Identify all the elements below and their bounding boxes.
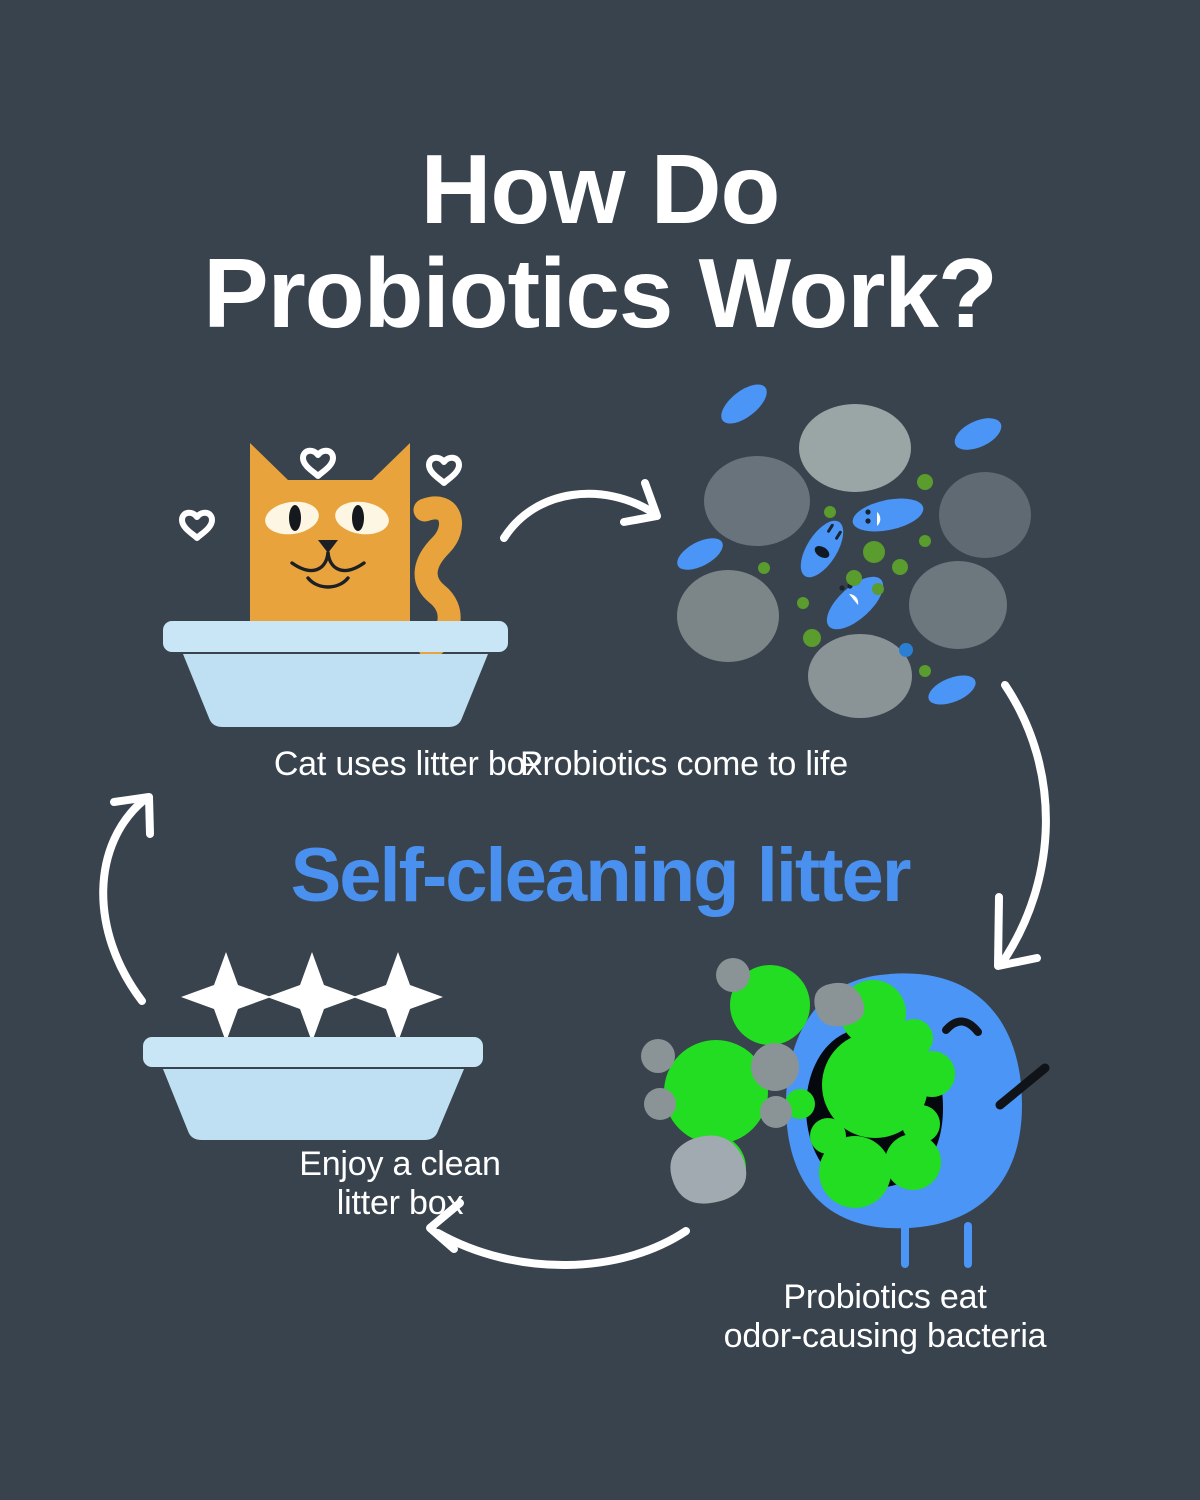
litter-box-basin-top [183, 654, 488, 727]
illustration-probiotic-cluster [672, 377, 1031, 718]
probiotic-character-leg [964, 1222, 972, 1268]
litter-clump-particle [716, 958, 750, 992]
green-speck [919, 535, 931, 547]
cat-pupil-left [289, 505, 301, 531]
litter-box-rim-top [163, 621, 508, 652]
litter-clump [939, 472, 1031, 558]
probiotic-character-leg [901, 1222, 909, 1268]
green-speck [917, 474, 933, 490]
green-speck [892, 559, 908, 575]
cat-pupil-right [352, 505, 364, 531]
litter-clump [808, 634, 912, 718]
heart-icon-top [303, 451, 333, 476]
green-speck [803, 629, 821, 647]
odor-bacteria-particle [885, 1134, 941, 1190]
green-speck [824, 506, 836, 518]
litter-clump-particle [760, 1096, 792, 1128]
litter-clump [909, 561, 1007, 649]
infographic-canvas: How Do Probiotics Work? [0, 0, 1200, 1500]
arrow-cat-to-probiotics [504, 483, 657, 538]
probiotic-bacterium-with-face [850, 493, 927, 537]
probiotic-bacterium [924, 670, 979, 711]
illustration-cat-in-litter-box [163, 443, 508, 727]
caption-probiotics-come-to-life: Probiotics come to life [520, 745, 1200, 784]
litter-clump-particle [641, 1039, 675, 1073]
odor-bacteria-particle [895, 1019, 933, 1057]
litter-clump [677, 570, 779, 662]
caption-probiotics-eat-bacteria: Probiotics eat odor-causing bacteria [630, 1278, 1140, 1356]
arrow-probiotics-to-eat [998, 685, 1046, 966]
litter-clump [799, 404, 911, 492]
green-speck [758, 562, 770, 574]
green-speck [863, 541, 885, 563]
illustration-clean-litter-box [143, 952, 483, 1140]
green-speck [846, 570, 862, 586]
odor-bacteria-particle [819, 1136, 891, 1208]
green-speck [899, 643, 913, 657]
litter-clump [704, 456, 810, 546]
sparkle-icon [267, 952, 357, 1042]
litter-box-rim-bottom [143, 1037, 483, 1067]
green-speck [919, 665, 931, 677]
probiotic-bacterium [672, 532, 727, 577]
heart-icon-left [182, 513, 212, 538]
odor-bacteria-particle [664, 1040, 768, 1144]
litter-clump-particle [751, 1043, 799, 1091]
sparkle-icon [353, 952, 443, 1042]
heart-icon-right [429, 458, 459, 483]
green-speck [872, 583, 884, 595]
green-speck [797, 597, 809, 609]
headline-self-cleaning-litter: Self-cleaning litter [0, 832, 1200, 919]
litter-box-basin-bottom [163, 1069, 464, 1140]
probiotic-bacterium [715, 377, 774, 431]
litter-clump-particle [644, 1088, 676, 1120]
odor-bacteria-particle [909, 1051, 955, 1097]
sparkle-icon [181, 952, 271, 1042]
caption-enjoy-clean-litter-box: Enjoy a clean litter box [60, 1145, 740, 1223]
